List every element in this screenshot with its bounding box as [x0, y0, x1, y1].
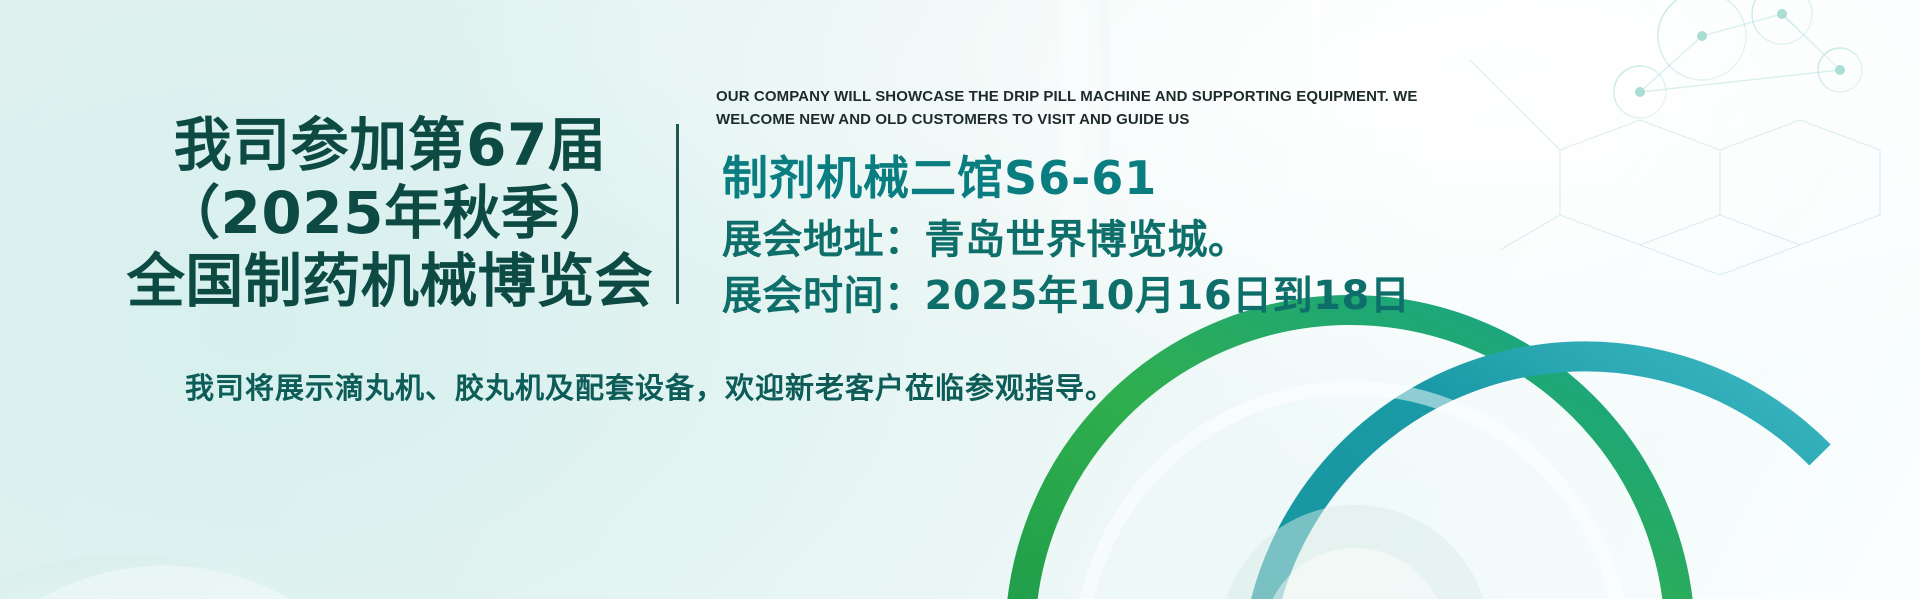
title-line-1: 我司参加第67届 [110, 112, 670, 180]
title-line-2: （2025年秋季） [110, 180, 670, 248]
title-line-3: 全国制药机械博览会 [110, 248, 670, 316]
teal-arc-graphic [1255, 356, 1820, 599]
banner-title: 我司参加第67届 （2025年秋季） 全国制药机械博览会 [110, 112, 670, 316]
exhibition-date: 展会时间：2025年10月16日到18日 [722, 269, 1892, 323]
english-caption: OUR COMPANY WILL SHOWCASE THE DRIP PILL … [716, 85, 1476, 132]
exhibition-info-block: OUR COMPANY WILL SHOWCASE THE DRIP PILL … [712, 85, 1892, 325]
vertical-divider [676, 124, 679, 304]
pale-arc-left [0, 555, 290, 599]
exhibition-address: 展会地址：青岛世界博览城。 [722, 213, 1892, 267]
banner-subtitle: 我司将展示滴丸机、胶丸机及配套设备，欢迎新老客户莅临参观指导。 [0, 365, 1300, 407]
green-arc-graphic [1020, 310, 1680, 599]
exhibition-banner: 我司参加第67届 （2025年秋季） 全国制药机械博览会 OUR COMPANY… [0, 0, 1920, 599]
booth-number: 制剂机械二馆S6-61 [722, 150, 1892, 208]
